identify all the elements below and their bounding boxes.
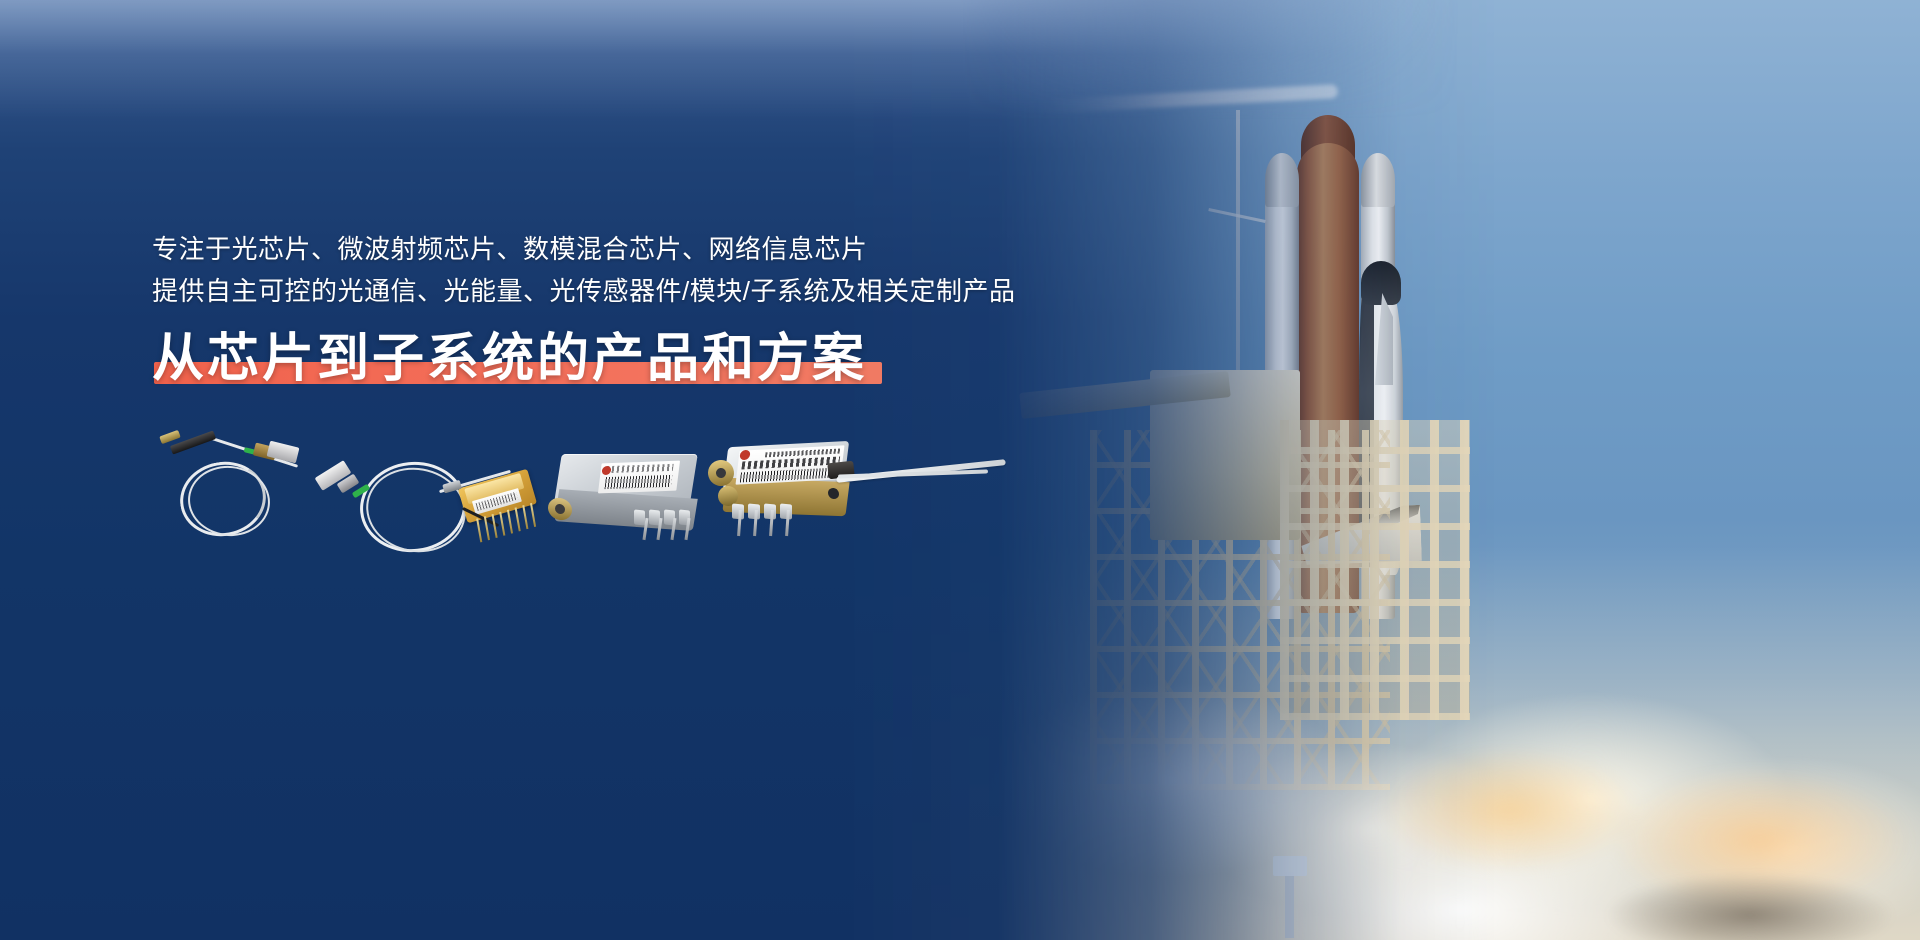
hero-subline-2: 提供自主可控的光通信、光能量、光传感器件/模块/子系统及相关定制产品 [152,270,1132,312]
hero-headline-wrap: 从芯片到子系统的产品和方案 [152,330,867,390]
rf-module-label [598,461,680,494]
product-photo-strip [150,432,1010,552]
product-rf-metal-module [548,450,708,542]
product-fiber-pigtail-connector-assembly [158,432,338,542]
rf-module-label-text [606,464,673,473]
hero-subline-1: 专注于光芯片、微波射频芯片、数模混合芯片、网络信息芯片 [152,228,1132,270]
orj-screw-hole [828,488,839,500]
hero-copy-block: 专注于光芯片、微波射频芯片、数模混合芯片、网络信息芯片 提供自主可控的光通信、光… [152,228,1132,390]
hero-banner: 专注于光芯片、微波射频芯片、数模混合芯片、网络信息芯片 提供自主可控的光通信、光… [0,0,1920,940]
hero-headline: 从芯片到子系统的产品和方案 [152,330,867,390]
rf-module-barcode [604,475,672,489]
rf-module-pin-row [644,518,706,542]
product-optical-rotary-joint-module [710,438,1010,548]
orj-pin-row [738,510,808,538]
top-light-sheen [0,0,1920,120]
